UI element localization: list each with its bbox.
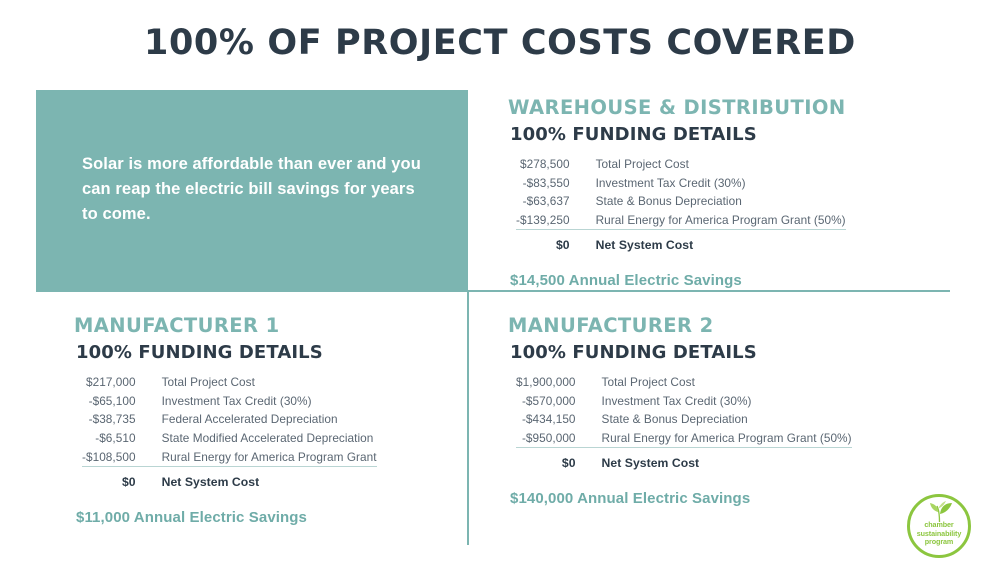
funding-row-amount: -$950,000 [516,429,602,448]
intro-panel: Solar is more affordable than ever and y… [36,90,468,290]
page-title: 100% OF PROJECT COSTS COVERED [0,23,1000,63]
section-manufacturer-2: MANUFACTURER 2100% FUNDING DETAILS$1,900… [508,314,950,507]
section-title-manufacturer-1: MANUFACTURER 1 [74,314,474,337]
funding-row-amount: $217,000 [82,373,162,392]
funding-row: -$434,150State & Bonus Depreciation [516,410,852,429]
funding-row-label: Investment Tax Credit (30%) [162,392,377,411]
funding-row-amount: -$6,510 [82,429,162,448]
annual-electric-savings-warehouse: $14,500 Annual Electric Savings [510,272,950,289]
funding-details-heading-manufacturer-1: 100% FUNDING DETAILS [76,342,474,363]
funding-row-amount: -$108,500 [82,447,162,466]
funding-row-amount: -$139,250 [516,211,596,230]
logo-text: chamber sustainability program [907,521,971,547]
net-system-cost-label: Net System Cost [602,448,852,473]
funding-details-heading-warehouse: 100% FUNDING DETAILS [510,124,950,145]
funding-details-heading-manufacturer-2: 100% FUNDING DETAILS [510,342,950,363]
funding-table-manufacturer-2: $1,900,000Total Project Cost-$570,000Inv… [516,373,852,472]
funding-row-label: Total Project Cost [596,155,846,174]
funding-row-amount: -$434,150 [516,410,602,429]
funding-row: -$139,250Rural Energy for America Progra… [516,211,846,230]
funding-row-amount: $278,500 [516,155,596,174]
intro-text: Solar is more affordable than ever and y… [82,152,432,227]
section-manufacturer-1: MANUFACTURER 1100% FUNDING DETAILS$217,0… [74,314,474,526]
funding-row: -$38,735Federal Accelerated Depreciation [82,410,377,429]
funding-row-label: Federal Accelerated Depreciation [162,410,377,429]
funding-table-warehouse: $278,500Total Project Cost-$83,550Invest… [516,155,846,254]
funding-row-label: Rural Energy for America Program Grant (… [602,429,852,448]
funding-row-label: Rural Energy for America Program Grant [162,447,377,466]
annual-electric-savings-manufacturer-1: $11,000 Annual Electric Savings [76,509,474,526]
section-title-manufacturer-2: MANUFACTURER 2 [508,314,950,337]
net-system-cost-amount: $0 [82,466,162,491]
funding-row-amount: $1,900,000 [516,373,602,392]
funding-row: -$63,637State & Bonus Depreciation [516,192,846,211]
section-warehouse: WAREHOUSE & DISTRIBUTION100% FUNDING DET… [508,96,950,289]
net-system-cost-amount: $0 [516,448,602,473]
horizontal-divider [36,290,950,292]
funding-row: $1,900,000Total Project Cost [516,373,852,392]
net-system-cost-label: Net System Cost [162,466,377,491]
funding-row: -$570,000Investment Tax Credit (30%) [516,392,852,411]
funding-row: -$950,000Rural Energy for America Progra… [516,429,852,448]
net-system-cost-row: $0Net System Cost [82,466,377,491]
funding-row: -$83,550Investment Tax Credit (30%) [516,174,846,193]
funding-row: -$6,510State Modified Accelerated Deprec… [82,429,377,448]
net-system-cost-label: Net System Cost [596,230,846,255]
funding-row: $278,500Total Project Cost [516,155,846,174]
funding-row: -$65,100Investment Tax Credit (30%) [82,392,377,411]
funding-row-label: Rural Energy for America Program Grant (… [596,211,846,230]
funding-row-label: State & Bonus Depreciation [602,410,852,429]
net-system-cost-amount: $0 [516,230,596,255]
funding-row: -$108,500Rural Energy for America Progra… [82,447,377,466]
infographic-page: 100% OF PROJECT COSTS COVERED Solar is m… [0,0,1000,562]
funding-row-amount: -$83,550 [516,174,596,193]
funding-row-label: Total Project Cost [602,373,852,392]
funding-row-amount: -$570,000 [516,392,602,411]
funding-row-label: Total Project Cost [162,373,377,392]
funding-row: $217,000Total Project Cost [82,373,377,392]
net-system-cost-row: $0Net System Cost [516,230,846,255]
funding-row-amount: -$63,637 [516,192,596,211]
net-system-cost-row: $0Net System Cost [516,448,852,473]
annual-electric-savings-manufacturer-2: $140,000 Annual Electric Savings [510,490,950,507]
funding-row-amount: -$38,735 [82,410,162,429]
funding-row-label: State Modified Accelerated Depreciation [162,429,377,448]
section-title-warehouse: WAREHOUSE & DISTRIBUTION [508,96,950,119]
funding-row-label: State & Bonus Depreciation [596,192,846,211]
funding-row-label: Investment Tax Credit (30%) [602,392,852,411]
logo-text-line-3: program [907,538,971,547]
funding-table-manufacturer-1: $217,000Total Project Cost-$65,100Invest… [82,373,377,491]
funding-row-label: Investment Tax Credit (30%) [596,174,846,193]
funding-row-amount: -$65,100 [82,392,162,411]
chamber-sustainability-program-logo: chamber sustainability program [907,494,971,558]
